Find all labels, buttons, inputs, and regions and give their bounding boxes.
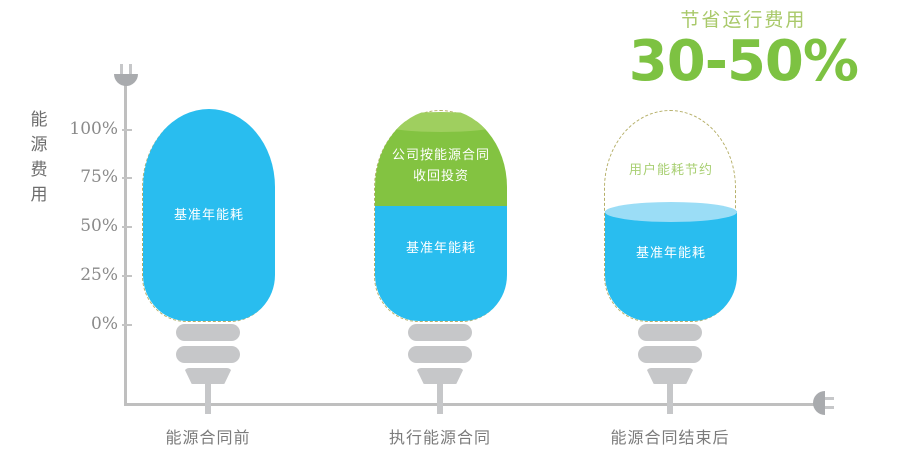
headline-block: 节省运行费用 30-50% <box>629 6 858 90</box>
bulb-stem <box>205 384 211 414</box>
segment-label: 基准年能耗 <box>375 238 507 259</box>
segment-surface <box>605 202 737 222</box>
bulb-glass: 用户能耗节约 基准年能耗 <box>604 110 736 322</box>
bulb-cap <box>184 368 232 384</box>
bulb-stem <box>667 384 673 414</box>
bulb-before-contract[interactable]: 基准年能耗 <box>142 110 274 322</box>
segment-baseline-energy: 基准年能耗 <box>605 211 737 321</box>
y-tick-75: 75% <box>70 170 132 186</box>
x-label-during-contract: 执行能源合同 <box>340 424 540 448</box>
y-tick-label: 75% <box>80 167 118 187</box>
bulb-fill-area: 基准年能耗 <box>605 109 737 321</box>
headline-value: 30-50% <box>629 34 858 90</box>
y-tick-label: 0% <box>91 314 118 334</box>
bulb-fill-area: 基准年能耗 公司按能源合同收回投资 <box>375 109 507 321</box>
y-tick-mark <box>122 275 132 277</box>
y-tick-label: 25% <box>80 265 118 285</box>
segment-label: 基准年能耗 <box>605 243 737 264</box>
y-tick-mark <box>122 226 132 228</box>
bulb-screw-ring <box>408 324 472 341</box>
y-axis-title: 能源费用 <box>28 108 50 208</box>
segment-baseline-energy: 基准年能耗 <box>143 109 275 321</box>
infographic-canvas: 节省运行费用 30-50% 能源费用 100% 75% 50% 25% <box>0 0 900 473</box>
bulb-glass: 用户能耗节约 基准年能耗 公司按能源合同收回投资 <box>374 110 506 322</box>
x-label-after-contract: 能源合同结束后 <box>570 424 770 448</box>
y-tick-100: 100% <box>70 122 132 138</box>
y-tick-label: 100% <box>69 119 118 139</box>
segment-baseline-energy: 基准年能耗 <box>375 206 507 321</box>
bulb-base <box>374 324 506 414</box>
segment-label: 基准年能耗 <box>143 205 275 226</box>
y-tick-25: 25% <box>70 268 132 284</box>
bulb-stem <box>437 384 443 414</box>
y-tick-mark <box>122 177 132 179</box>
bulb-screw-ring <box>638 346 702 363</box>
segment-label: 公司按能源合同收回投资 <box>375 145 507 187</box>
y-tick-mark <box>122 129 132 131</box>
y-tick-50: 50% <box>70 219 132 235</box>
bulb-fill-area: 基准年能耗 <box>143 109 275 321</box>
bulb-cap <box>646 368 694 384</box>
bulb-screw-ring <box>176 324 240 341</box>
x-label-before-contract: 能源合同前 <box>108 424 308 448</box>
bulb-during-contract[interactable]: 用户能耗节约 基准年能耗 公司按能源合同收回投资 <box>374 110 506 322</box>
bulb-screw-ring <box>176 346 240 363</box>
bulb-after-contract[interactable]: 用户能耗节约 基准年能耗 <box>604 110 736 322</box>
y-tick-mark <box>122 324 132 326</box>
plug-icon <box>111 64 141 90</box>
segment-investment-recovery: 公司按能源合同收回投资 <box>375 121 507 206</box>
bulb-cap <box>416 368 464 384</box>
segment-surface <box>375 112 507 132</box>
bulb-base <box>142 324 274 414</box>
y-tick-0: 0% <box>70 317 132 333</box>
bulb-base <box>604 324 736 414</box>
bulb-glass: 基准年能耗 <box>142 110 274 322</box>
bulb-screw-ring <box>408 346 472 363</box>
bulb-screw-ring <box>638 324 702 341</box>
y-tick-label: 50% <box>80 216 118 236</box>
plug-icon <box>806 388 836 418</box>
